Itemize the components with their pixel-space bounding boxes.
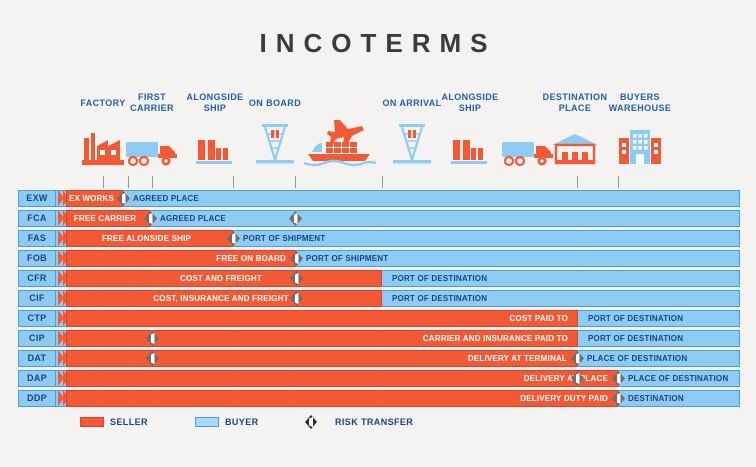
seller-bar-label: FREE CARRIER <box>66 210 144 227</box>
axis-tick <box>382 176 383 188</box>
buyer-bar-label: PORT OF DESTINATION <box>392 270 487 287</box>
risk-transfer-icon <box>305 415 317 429</box>
incoterm-code-cip: CIP <box>18 330 56 347</box>
column-header-line: SHIP <box>425 103 515 114</box>
risk-transfer-marker <box>227 231 240 246</box>
incoterm-code-exw: EXW <box>18 190 56 207</box>
seller-bar-label: CARRIER AND INSURANCE PAID TO <box>66 330 568 347</box>
buyer-bar-label: PORT OF SHIPMENT <box>306 250 388 267</box>
incoterm-row[interactable]: DDPDELIVERY DUTY PAIDDESTINATION <box>0 390 756 407</box>
buyer-bar-label: PORT OF DESTINATION <box>588 310 683 327</box>
risk-transfer-marker <box>571 351 584 366</box>
incoterm-code-dat: DAT <box>18 350 56 367</box>
page-title: INCOTERMS <box>0 28 756 59</box>
risk-transfer-marker <box>289 211 302 226</box>
seller-chevron-icon <box>58 350 66 367</box>
risk-transfer-marker <box>290 251 303 266</box>
incoterm-row[interactable]: CTPCOST PAID TOPORT OF DESTINATION <box>0 310 756 327</box>
ship-plane-icon <box>304 118 376 173</box>
seller-chevron-icon <box>58 230 66 247</box>
incoterm-row[interactable]: EXWEX WORKSAGREED PLACE <box>0 190 756 207</box>
buyer-bar-label: PORT OF DESTINATION <box>588 330 683 347</box>
incoterm-row[interactable]: FASFREE ALONSIDE SHIPPORT OF SHIPMENT <box>0 230 756 247</box>
incoterm-code-fca: FCA <box>18 210 56 227</box>
seller-bar-label: COST, INSURANCE AND FREIGHT <box>66 290 376 307</box>
seller-bar-label: FREE ALONSIDE SHIP <box>66 230 227 247</box>
buyer-bar-label: PORT OF SHIPMENT <box>243 230 325 247</box>
seller-bar-label: DELIVERY DUTY PAID <box>66 390 608 407</box>
risk-transfer-marker <box>290 291 303 306</box>
column-header-line: ON BOARD <box>230 98 320 109</box>
seller-bar-label: DELIVERY AT TERMINAL <box>66 350 567 367</box>
buyer-bar-label: DESTINATION <box>628 390 684 407</box>
warehouse-icon <box>550 132 600 173</box>
column-header-line: ALONGSIDE <box>425 92 515 103</box>
seller-chevron-icon <box>58 370 66 387</box>
axis-tick <box>577 176 578 188</box>
incoterm-row[interactable]: FOBFREE ON BOARDPORT OF SHIPMENT <box>0 250 756 267</box>
axis-tick <box>128 176 129 188</box>
seller-bar-label: FREE ON BOARD <box>66 250 286 267</box>
incoterm-row[interactable]: CIPCARRIER AND INSURANCE PAID TOPORT OF … <box>0 330 756 347</box>
seller-chevron-icon <box>58 310 66 327</box>
risk-transfer-marker <box>290 271 303 286</box>
seller-chevron-icon <box>58 270 66 287</box>
buyer-bar-label: PLACE OF DESTINATION <box>628 370 728 387</box>
legend-swatch <box>195 417 219 427</box>
column-header-line: WAREHOUSE <box>595 103 685 114</box>
legend-label: SELLER <box>110 414 148 430</box>
risk-transfer-marker <box>612 371 625 386</box>
column-header-line: BUYERS <box>595 92 685 103</box>
incoterm-row[interactable]: CIFCOST, INSURANCE AND FREIGHTPORT OF DE… <box>0 290 756 307</box>
risk-transfer-marker <box>612 391 625 406</box>
incoterm-code-fob: FOB <box>18 250 56 267</box>
axis-tick <box>103 176 104 188</box>
seller-bar-label: COST PAID TO <box>66 310 568 327</box>
truck-icon <box>125 136 179 173</box>
buyer-bar-label: PORT OF DESTINATION <box>392 290 487 307</box>
axis-tick <box>152 176 153 188</box>
legend-label: BUYER <box>225 414 259 430</box>
seller-chevron-icon <box>58 250 66 267</box>
seller-bar-label: EX WORKS <box>66 190 117 207</box>
axis-tick <box>295 176 296 188</box>
axis-tick <box>618 176 619 188</box>
seller-chevron-icon <box>58 330 66 347</box>
seller-chevron-icon <box>58 210 66 227</box>
buyer-bar-label: AGREED PLACE <box>133 190 199 207</box>
risk-transfer-marker <box>144 211 157 226</box>
incoterm-code-fas: FAS <box>18 230 56 247</box>
incoterm-code-cif: CIF <box>18 290 56 307</box>
incoterms-chart: EXWEX WORKSAGREED PLACEFCAFREE CARRIERAG… <box>0 176 756 402</box>
incoterm-row[interactable]: DAPDELIVERY AT PLACEPLACE OF DESTINATION <box>0 370 756 387</box>
seller-chevron-icon <box>58 390 66 407</box>
crane-icon <box>391 120 433 173</box>
column-header-alongside-ship-2: ALONGSIDESHIP <box>425 92 515 114</box>
axis-tick <box>233 176 234 188</box>
incoterm-row[interactable]: CFRCOST AND FREIGHTPORT OF DESTINATION <box>0 270 756 287</box>
risk-transfer-marker <box>146 351 159 366</box>
incoterm-code-dap: DAP <box>18 370 56 387</box>
buyer-bar <box>55 210 740 227</box>
incoterm-code-ctp: CTP <box>18 310 56 327</box>
incoterm-row[interactable]: DATDELIVERY AT TERMINALPLACE OF DESTINAT… <box>0 350 756 367</box>
risk-transfer-marker <box>117 191 130 206</box>
cargo-boxes-icon <box>450 134 490 173</box>
risk-transfer-marker <box>146 331 159 346</box>
seller-chevron-icon <box>58 290 66 307</box>
incoterm-row[interactable]: FCAFREE CARRIERAGREED PLACE <box>0 210 756 227</box>
seller-bar-label: COST AND FREIGHT <box>66 270 376 287</box>
risk-transfer-marker <box>571 371 584 386</box>
incoterm-code-ddp: DDP <box>18 390 56 407</box>
column-header-on-board: ON BOARD <box>230 98 320 109</box>
cargo-boxes-icon <box>195 134 235 173</box>
crane-icon <box>254 120 296 173</box>
truck-icon <box>501 136 555 173</box>
building-icon <box>617 128 663 173</box>
buyer-bar-label: PLACE OF DESTINATION <box>587 350 687 367</box>
buyer-bar-label: AGREED PLACE <box>160 210 226 227</box>
incoterm-code-cfr: CFR <box>18 270 56 287</box>
factory-icon <box>80 130 126 173</box>
column-header-buyers-warehouse: BUYERSWAREHOUSE <box>595 92 685 114</box>
legend-label: RISK TRANSFER <box>335 414 413 430</box>
seller-bar-label: DELIVERY AT PLACE <box>66 370 608 387</box>
incoterms-infographic: INCOTERMS FACTORYFIRSTCARRIERALONGSIDESH… <box>0 0 756 467</box>
seller-chevron-icon <box>58 190 66 207</box>
legend-swatch <box>80 417 104 427</box>
